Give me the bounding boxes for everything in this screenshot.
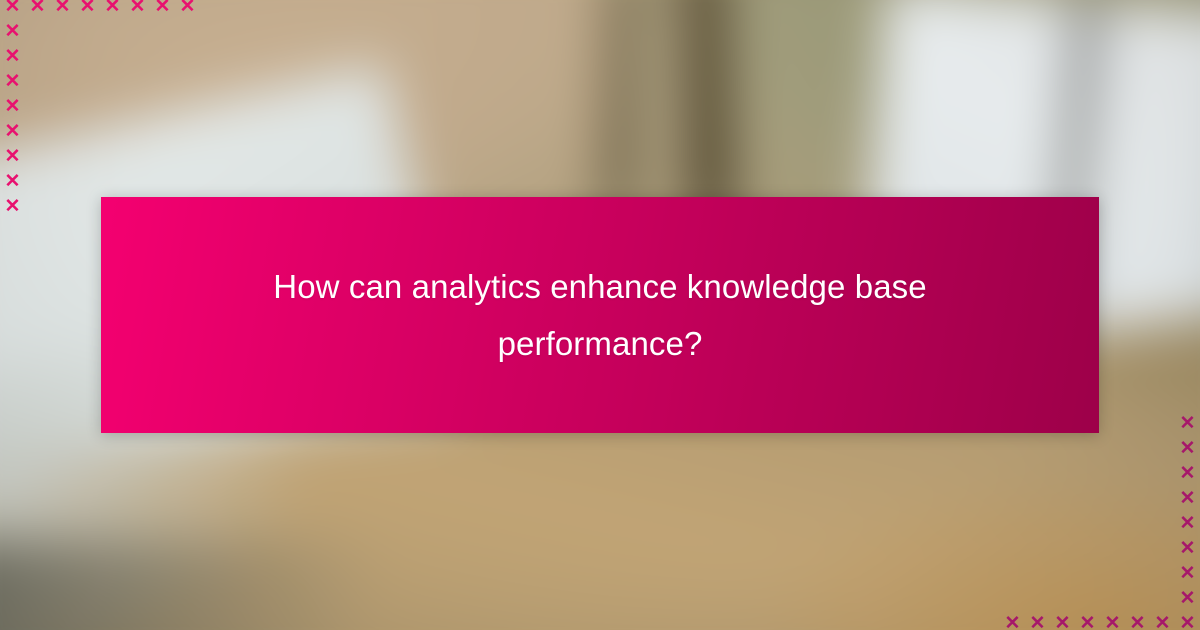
social-share-card: ✕✕✕✕✕✕✕✕ ✕✕✕✕✕✕✕✕ ✕✕✕✕✕✕✕✕ ✕✕✕✕✕✕✕✕ How … <box>0 0 1200 630</box>
headline-banner: How can analytics enhance knowledge base… <box>101 197 1099 433</box>
page-title: How can analytics enhance knowledge base… <box>220 258 980 373</box>
